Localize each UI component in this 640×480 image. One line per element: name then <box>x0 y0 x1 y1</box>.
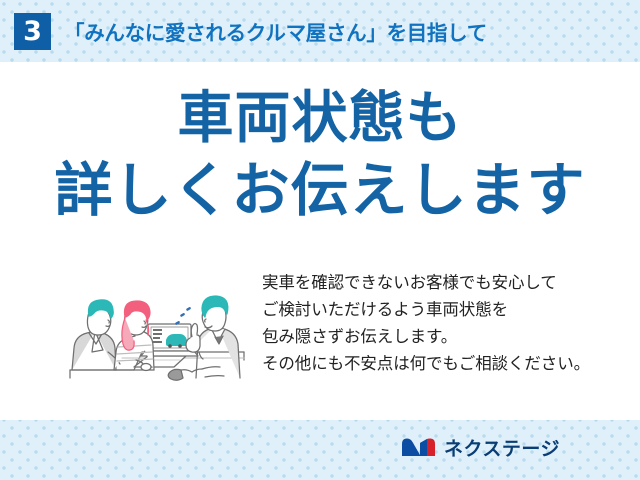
headline-line-2: 詳しくお伝えします <box>0 160 640 221</box>
banner-footer: ネクステージ <box>0 420 640 480</box>
header-step-badge: 3 <box>14 13 51 50</box>
headline-line-1: 車両状態も <box>0 88 640 147</box>
nextage-n-mark-icon <box>401 436 436 459</box>
headline: 車両状態も 詳しくお伝えします <box>0 88 640 222</box>
header-title: 「みんなに愛されるクルマ屋さん」を目指して <box>64 16 487 46</box>
consultation-illustration-svg <box>62 274 250 386</box>
body-line-2: ご検討いただけるよう車両状態を <box>262 297 634 324</box>
body-line-3: 包み隠さずお伝えします。 <box>262 324 634 351</box>
nextage-logo-text: ネクステージ <box>444 434 560 461</box>
nextage-logo: ネクステージ <box>401 434 560 461</box>
body-line-4: その他にも不安点は何でもご相談ください。 <box>262 351 634 378</box>
content-card: 車両状態も 詳しくお伝えします <box>0 62 640 420</box>
consultation-illustration <box>62 274 250 386</box>
promo-banner: 3 「みんなに愛されるクルマ屋さん」を目指して 車両状態も 詳しくお伝えします <box>0 0 640 480</box>
body-text: 実車を確認できないお客様でも安心して ご検討いただけるよう車両状態を 包み隠さず… <box>262 270 634 378</box>
speech-sparkle <box>175 307 192 326</box>
content-row: 実車を確認できないお客様でも安心して ご検討いただけるよう車両状態を 包み隠さず… <box>0 270 640 410</box>
banner-header: 3 「みんなに愛されるクルマ屋さん」を目指して <box>0 0 640 62</box>
body-line-1: 実車を確認できないお客様でも安心して <box>262 270 634 297</box>
